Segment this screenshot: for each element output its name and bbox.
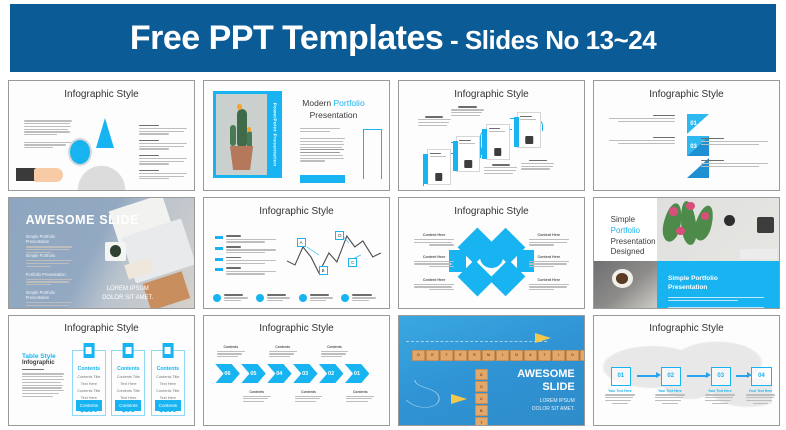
letter-tile: D	[412, 350, 425, 361]
tulip-bud	[686, 202, 695, 210]
spoke-label: Content Here	[529, 255, 570, 267]
pricing-card[interactable]: Contents Contents Title Text Here Conten…	[72, 350, 106, 417]
card-row: Contents Title	[112, 389, 144, 393]
map-arrow-1	[637, 375, 657, 377]
cactus-flower-top	[237, 104, 242, 110]
chevron-label-heading: Contents	[217, 345, 245, 349]
ppt-template-preview-page: Free PPT Templates - Slides No 13~24 Inf…	[0, 0, 786, 430]
path-card	[517, 112, 541, 148]
cup-icon	[465, 160, 472, 167]
spoke-label: Content Here	[414, 233, 455, 245]
letter-tile: O	[566, 350, 579, 361]
chevron-label-heading: Contents	[295, 390, 323, 394]
cactus-arm-left	[230, 125, 236, 146]
map-label: Your Text Here	[705, 389, 735, 404]
panel-title-2: Presentation	[668, 284, 707, 291]
path-caption	[484, 164, 517, 174]
slide-thumbnail-2[interactable]: PowerPoint Presentation Modern Portfolio…	[203, 80, 390, 191]
slide-5-text-block: Simple Portfolio	[26, 253, 76, 267]
cactus-flower-side	[247, 127, 251, 132]
image-icon	[83, 343, 94, 357]
triangle-caption-03	[701, 138, 768, 145]
cactus-body	[237, 109, 247, 148]
triangle-caption-02	[609, 137, 676, 144]
footer-icon-item	[341, 294, 379, 302]
list-item	[139, 155, 187, 165]
heading-line-3: Designed	[611, 247, 645, 256]
chevron-step-05: 05	[241, 364, 266, 384]
spoke-label: Content Here	[414, 278, 455, 290]
slide-3-title: Infographic Style	[399, 89, 584, 100]
card-header: Contents	[73, 366, 105, 372]
chart-marker-b: B	[319, 266, 328, 275]
slide-1-title: Infographic Style	[9, 89, 194, 100]
spoke-label-heading: Content Here	[414, 278, 455, 282]
globe-icon	[341, 294, 349, 302]
footer-icon-item	[256, 294, 294, 302]
doubt-word-column: D O U B T	[475, 369, 488, 426]
letter-tile: I	[496, 350, 509, 361]
chevron-label-top: Contents	[269, 345, 297, 357]
letter-tile: I	[552, 350, 565, 361]
tulips-photo	[657, 198, 779, 260]
panel-title-1: Simple Portfolio	[668, 275, 718, 282]
path-card	[427, 149, 451, 185]
slide-5-text-block: Simple Portfolio Presentation	[26, 234, 76, 253]
chevron-label-heading: Contents	[321, 345, 349, 349]
coffee-photo	[594, 261, 657, 308]
footer-icon-item	[213, 294, 251, 302]
lorem-line-1: LOREM IPSUM	[532, 398, 575, 405]
slide-9-left-panel: Table Style Infographic	[22, 353, 65, 397]
slide-1-left-paragraph	[24, 120, 72, 148]
card-button[interactable]: Contents	[76, 400, 102, 410]
map-label-heading: Your Text Here	[655, 389, 685, 393]
path-caption	[521, 160, 554, 170]
path-caption	[418, 116, 451, 126]
pricing-card[interactable]: Contents Contents Title Text Here Conten…	[151, 350, 185, 417]
card-button[interactable]: Contents	[115, 400, 141, 410]
map-step-04: 04	[751, 367, 771, 386]
chevron-step-06: 06	[215, 364, 240, 384]
chart-marker-c: C	[348, 258, 357, 267]
paper-plane-icon	[96, 118, 114, 148]
tape-object	[724, 215, 735, 226]
left-heading-2: Infographic	[22, 360, 65, 366]
legend-swatch	[215, 268, 223, 271]
letter-tile: N	[510, 350, 523, 361]
chevron-label-top: Contents	[217, 345, 245, 357]
card-row: Text Here	[112, 382, 144, 386]
footer-icon-item	[299, 294, 337, 302]
slide-2-heading: Modern Portfolio Presentation	[293, 98, 374, 121]
slide-7-title: Infographic Style	[399, 206, 584, 217]
heading-part-2: Presentation	[310, 110, 358, 120]
slide-8-cyan-panel: Simple Portfolio Presentation	[657, 261, 779, 308]
path-card	[456, 136, 480, 172]
slide-5-lorem: LOREM IPSUM DOLOR SIT AMET.	[102, 285, 153, 302]
block-heading: Portfolio Presentation	[26, 272, 76, 277]
letter-tile: M	[482, 350, 495, 361]
letter-tile: B	[475, 405, 488, 416]
slide-4-title: Infographic Style	[594, 89, 779, 100]
title-line-2: SLIDE	[542, 381, 574, 393]
letter-tile: N	[580, 350, 585, 361]
legend-swatch	[215, 236, 223, 239]
pricing-card[interactable]: Contents Contents Title Text Here Conten…	[111, 350, 145, 417]
slide-thumbnail-grid: Infographic Style	[8, 80, 780, 426]
header-banner: Free PPT Templates - Slides No 13~24	[10, 4, 776, 72]
tag-icon	[162, 343, 173, 357]
slide-1-bullet-list	[139, 125, 187, 180]
paper-plane-icon-top	[535, 333, 551, 343]
keyboard-object	[740, 249, 777, 259]
map-label-heading: Your Text Here	[746, 389, 776, 393]
legend-swatch	[215, 247, 223, 250]
slide-9-title: Infographic Style	[9, 323, 194, 334]
heading-accent: Portfolio	[611, 226, 640, 235]
lorem-line-2: DOLOR SIT AMET.	[532, 406, 575, 413]
triangle-caption-04	[701, 160, 768, 167]
spoke-label-heading: Content Here	[414, 233, 455, 237]
list-item	[139, 125, 187, 135]
block-heading: Simple Portfolio	[26, 253, 76, 258]
chart-marker-a: A	[297, 238, 306, 247]
hand-pointing-illustration	[16, 165, 68, 182]
dotted-guide-line	[406, 341, 547, 342]
heading-line-2: Presentation	[611, 237, 656, 246]
heading-line-1: Simple	[611, 215, 635, 224]
slide-thumbnail-7[interactable]: Infographic Style Content Here Content H…	[398, 197, 585, 308]
slide-11-title: AWESOME SLIDE	[517, 368, 574, 393]
slide-5-title: AWESOME SLIDE	[26, 213, 139, 227]
briefcase-icon	[435, 173, 442, 180]
left-heading-1: Table Style	[22, 353, 65, 360]
map-label: Your Text Here	[746, 389, 776, 404]
map-step-01: 01	[611, 367, 631, 386]
letter-tile: T	[538, 350, 551, 361]
slide-10-title: Infographic Style	[204, 323, 389, 334]
slide-6-title: Infographic Style	[204, 206, 389, 217]
tulip-bud	[669, 207, 678, 216]
letter-tile: D	[475, 369, 488, 380]
pricing-card-row: Contents Contents Title Text Here Conten…	[72, 350, 185, 417]
slide-thumbnail-12[interactable]: Infographic Style 01 02 03 04 Your Text …	[593, 315, 780, 426]
banner-title-sub: - Slides No 13~24	[443, 25, 656, 55]
cactus-photo	[213, 91, 267, 178]
card-row: Contents Title	[73, 389, 105, 393]
list-item	[139, 140, 187, 150]
legend-item	[215, 246, 276, 253]
spoke-label: Content Here	[414, 255, 455, 267]
letter-tile: T	[475, 417, 488, 426]
slide-2-body-text	[300, 128, 344, 162]
map-label: Your Text Here	[605, 389, 635, 404]
card-header: Contents	[112, 366, 144, 372]
chevron-label-heading: Contents	[346, 390, 374, 394]
slide-thumbnail-4[interactable]: Infographic Style 01 02 03 04	[593, 80, 780, 191]
map-step-03: 03	[711, 367, 731, 386]
paper-plane-icon-bottom	[451, 394, 467, 404]
slide-thumbnail-8[interactable]: Simple Portfolio Presentation Designed S…	[593, 197, 780, 308]
card-row: Text Here	[152, 382, 184, 386]
map-label-heading: Your Text Here	[605, 389, 635, 393]
triangle-number-03: 03	[690, 144, 697, 150]
legend-item	[215, 235, 276, 242]
triangle-number-01: 01	[690, 121, 697, 127]
slide-thumbnail-6[interactable]: Infographic Style A B C D	[203, 197, 390, 308]
chevron-step-01: 01	[345, 364, 370, 384]
alarm-icon	[256, 294, 264, 302]
triangle-number-04: 04	[687, 159, 694, 165]
slide-8-heading-panel: Simple Portfolio Presentation Designed	[594, 198, 657, 260]
title-line-1: AWESOME	[517, 368, 574, 380]
letter-tile: R	[468, 350, 481, 361]
spoke-label-heading: Content Here	[529, 278, 570, 282]
tulip-bud	[676, 227, 685, 235]
plant-photo-object	[105, 242, 125, 261]
chart-legend	[215, 235, 276, 278]
list-item	[139, 170, 187, 180]
chevron-label-heading: Contents	[269, 345, 297, 349]
letter-tile: A	[524, 350, 537, 361]
map-label: Your Text Here	[655, 389, 685, 404]
chevron-step-03: 03	[293, 364, 318, 384]
chart-marker-d: D	[335, 231, 344, 240]
vertical-band-label: PowerPoint Presentation	[272, 103, 277, 167]
card-row: Text Here	[73, 382, 105, 386]
square-icon	[123, 343, 134, 357]
leaf-shape	[691, 203, 716, 242]
slide-thumbnail-3[interactable]: Infographic Style	[398, 80, 585, 191]
map-arrow-2	[687, 375, 707, 377]
lorem-line-2: DOLOR SIT AMET.	[102, 294, 153, 302]
spoke-label-heading: Content Here	[414, 255, 455, 259]
card-row: Contents Title	[112, 375, 144, 379]
slide-thumbnail-10[interactable]: Infographic Style 06 05 04 03 02 01 Cont…	[203, 315, 390, 426]
umbrella-icon	[213, 294, 221, 302]
letter-tile: E	[454, 350, 467, 361]
chevron-label-top: Contents	[321, 345, 349, 357]
page-title: Free PPT Templates - Slides No 13~24	[130, 19, 656, 58]
map-arrow-3	[736, 375, 747, 377]
letter-tile: U	[475, 393, 488, 404]
card-row: Contents Title	[152, 389, 184, 393]
camera-object	[757, 217, 774, 233]
block-heading: Simple Portfolio Presentation	[26, 290, 76, 300]
cart-icon	[526, 136, 533, 143]
chevron-step-04: 04	[267, 364, 292, 384]
map-step-02: 02	[661, 367, 681, 386]
letter-tile: O	[475, 381, 488, 392]
chevron-label-heading: Contents	[243, 390, 271, 394]
slide-thumbnail-9[interactable]: Infographic Style Table Style Infographi…	[8, 315, 195, 426]
card-header: Contents	[152, 366, 184, 372]
chevron-label-bottom: Contents	[295, 390, 323, 402]
block-heading: Simple Portfolio Presentation	[26, 234, 76, 244]
card-row: Contents Title	[152, 375, 184, 379]
card-row: Contents Title	[73, 375, 105, 379]
chevron-step-02: 02	[319, 364, 344, 384]
banner-title-main: Free PPT Templates	[130, 19, 444, 57]
letter-tile: T	[440, 350, 453, 361]
legend-item	[215, 257, 276, 264]
triangle-caption-01	[609, 115, 676, 122]
chevron-label-bottom: Contents	[243, 390, 271, 402]
legend-swatch	[215, 258, 223, 261]
letter-tile: E	[426, 350, 439, 361]
slide-11-lorem: LOREM IPSUM DOLOR SIT AMET.	[532, 398, 575, 413]
heading-part-1: Modern	[302, 98, 333, 108]
rocket-smoke	[74, 162, 130, 190]
slide-5-text-block: Simple Portfolio Presentation	[26, 290, 76, 306]
slide-thumbnail-1[interactable]: Infographic Style	[8, 80, 195, 191]
spoke-label: Content Here	[529, 278, 570, 290]
finger-shape	[34, 168, 63, 182]
slide-thumbnail-11[interactable]: D E T E R M I N A T I O N D O U B T	[398, 315, 585, 426]
plant-pot	[228, 146, 254, 170]
chevron-label-bottom: Contents	[346, 390, 374, 402]
chat-icon	[299, 294, 307, 302]
heading-accent: Portfolio	[333, 98, 364, 108]
cactus-arm-right	[247, 131, 253, 147]
map-label-heading: Your Text Here	[705, 389, 735, 393]
lorem-line-1: LOREM IPSUM	[102, 285, 153, 293]
decorative-frame	[363, 129, 382, 179]
card-button[interactable]: Contents	[155, 400, 181, 410]
footer-icon-row	[213, 294, 380, 302]
spoke-label: Content Here	[529, 233, 570, 245]
path-caption	[451, 106, 484, 116]
path-card	[486, 124, 510, 160]
spoke-label-heading: Content Here	[529, 255, 570, 259]
slide-thumbnail-5[interactable]: AWESOME SLIDE Simple Portfolio Presentat…	[8, 197, 195, 308]
coffee-cup	[612, 269, 633, 288]
legend-item	[215, 267, 276, 274]
center-hub	[480, 246, 502, 268]
determination-word-row: D E T E R M I N A T I O N	[412, 350, 585, 361]
vertical-band: PowerPoint Presentation	[267, 91, 282, 178]
car-icon	[494, 148, 501, 155]
slide-5-text-block: Portfolio Presentation	[26, 272, 76, 286]
slide-2-cta-button	[300, 175, 344, 183]
spoke-label-heading: Content Here	[529, 233, 570, 237]
